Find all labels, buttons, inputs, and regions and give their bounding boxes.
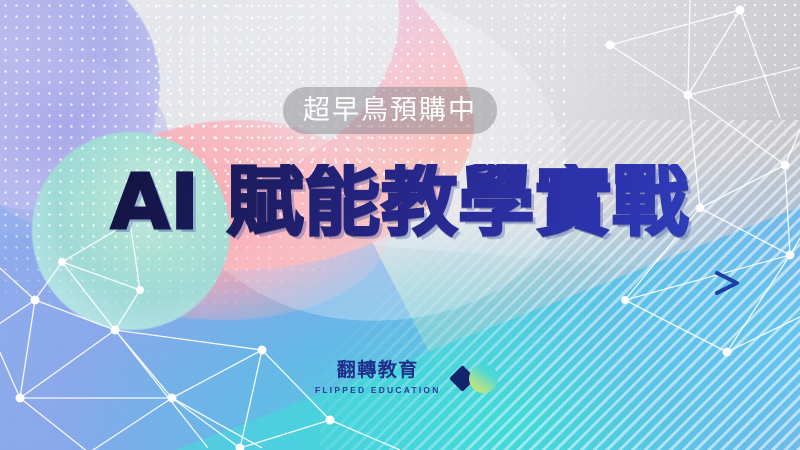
gradient-circle-icon (469, 364, 498, 393)
early-bird-badge-label: 超早鳥預購中 (303, 97, 477, 124)
brand-name-en: FLIPPED EDUCATION (315, 385, 441, 395)
brand-logo-mark (451, 361, 485, 395)
early-bird-badge: 超早鳥預購中 (283, 87, 497, 134)
promo-banner: .nl { stroke: #ffffff; stroke-width: 1.3… (0, 0, 800, 450)
page-title: AI 賦能教學實戰 (0, 164, 800, 240)
brand-name-cn: 翻轉教育 (337, 361, 419, 381)
brand-logo-text: 翻轉教育 FLIPPED EDUCATION (315, 361, 441, 395)
brand-logo[interactable]: 翻轉教育 FLIPPED EDUCATION (315, 352, 485, 404)
